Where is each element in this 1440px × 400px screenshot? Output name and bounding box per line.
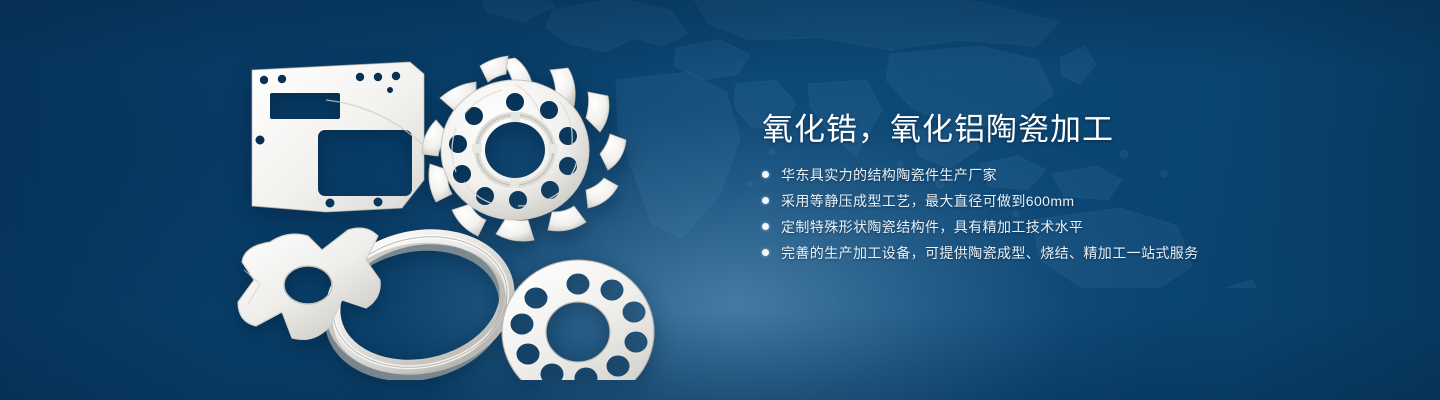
feature-text: 完善的生产加工设备，可提供陶瓷成型、烧结、精加工一站式服务 [781, 243, 1199, 263]
ceramic-impeller-part [422, 56, 626, 241]
hero-banner: 氧化锆，氧化铝陶瓷加工 华东具实力的结构陶瓷件生产厂家 采用等静压成型工艺，最大… [0, 0, 1440, 400]
bullet-dot-icon [762, 171, 769, 178]
bullet-dot-icon [762, 223, 769, 230]
list-item: 华东具实力的结构陶瓷件生产厂家 [762, 164, 1302, 185]
bullet-dot-icon [762, 249, 769, 256]
ceramic-cross-part [238, 228, 380, 340]
banner-copy: 氧化锆，氧化铝陶瓷加工 华东具实力的结构陶瓷件生产厂家 采用等静压成型工艺，最大… [762, 110, 1302, 268]
page-title: 氧化锆，氧化铝陶瓷加工 [762, 110, 1302, 150]
feature-text: 定制特殊形状陶瓷结构件，具有精加工技术水平 [781, 217, 1083, 237]
ceramic-products-image [230, 40, 730, 380]
ceramic-plate-part [252, 62, 424, 212]
feature-text: 华东具实力的结构陶瓷件生产厂家 [781, 165, 997, 185]
list-item: 采用等静压成型工艺，最大直径可做到600mm [762, 190, 1302, 211]
feature-text: 采用等静压成型工艺，最大直径可做到600mm [781, 191, 1074, 211]
ceramic-perforated-disc [502, 260, 654, 380]
list-item: 定制特殊形状陶瓷结构件，具有精加工技术水平 [762, 216, 1302, 237]
feature-list: 华东具实力的结构陶瓷件生产厂家 采用等静压成型工艺，最大直径可做到600mm 定… [762, 164, 1302, 263]
bullet-dot-icon [762, 197, 769, 204]
list-item: 完善的生产加工设备，可提供陶瓷成型、烧结、精加工一站式服务 [762, 242, 1302, 263]
